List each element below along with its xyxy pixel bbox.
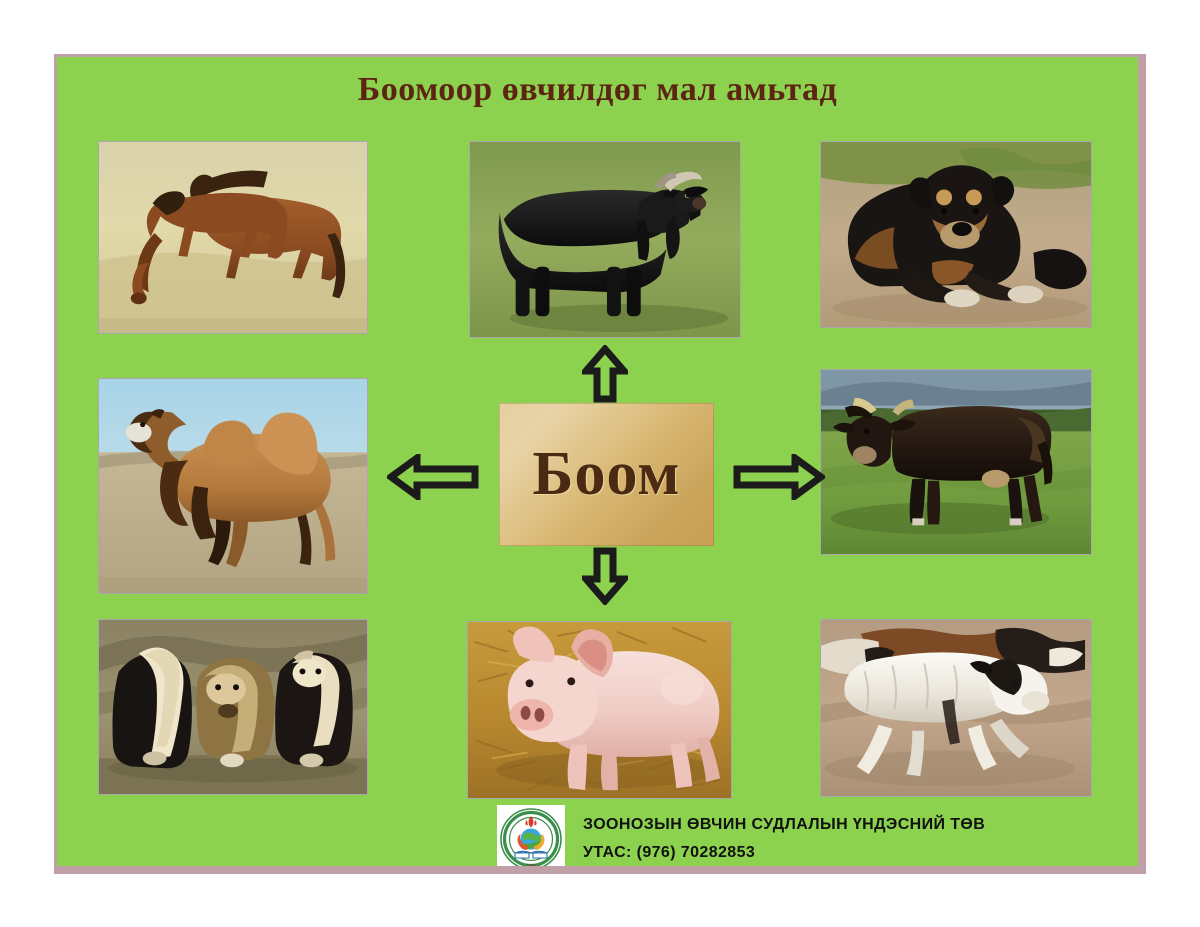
logo-emblem-icon: 1975 [499,807,563,866]
page-title: Боомоор өвчилдөг мал амьтад [57,71,1138,109]
arrow-up-icon [582,345,628,403]
photo-camel [98,378,368,594]
footer-text-block: ЗООНОЗЫН ӨВЧИН СУДЛАЛЫН ҮНДЭСНИЙ ТӨВ УТА… [583,816,985,862]
pig-illustration [468,622,731,798]
photo-sheep [820,619,1092,797]
photo-cow [820,369,1092,555]
arrow-down-icon [582,547,628,605]
dog-illustration [821,142,1091,327]
horses-illustration [99,142,367,333]
footer: 1975 ЗООНОЗЫН ӨВЧИН СУДЛАЛЫН ҮНДЭСНИЙ ТӨ… [497,805,985,866]
photo-horses [98,141,368,334]
goat-illustration [470,142,740,337]
phone-number: УТАС: (976) 70282853 [583,844,985,862]
photo-pig [467,621,732,799]
cow-illustration [821,370,1091,554]
yaks-illustration [99,620,367,794]
photo-goat [469,141,741,338]
poster-board: Боомоор өвчилдөг мал амьтад [57,57,1138,866]
photo-dog [820,141,1092,328]
poster-frame: Боомоор өвчилдөг мал амьтад [54,54,1146,874]
camel-illustration [99,379,367,593]
sheep-illustration [821,620,1091,796]
arrow-left-icon [387,454,479,500]
central-concept-label: Боом [532,439,680,510]
photo-yaks [98,619,368,795]
poster-page: Боомоор өвчилдөг мал амьтад [0,0,1200,927]
logo-year: 1975 [526,863,536,866]
organization-logo: 1975 [497,805,565,866]
organization-name: ЗООНОЗЫН ӨВЧИН СУДЛАЛЫН ҮНДЭСНИЙ ТӨВ [583,816,985,834]
arrow-right-icon [733,454,825,500]
central-concept-box: Боом [499,403,714,546]
